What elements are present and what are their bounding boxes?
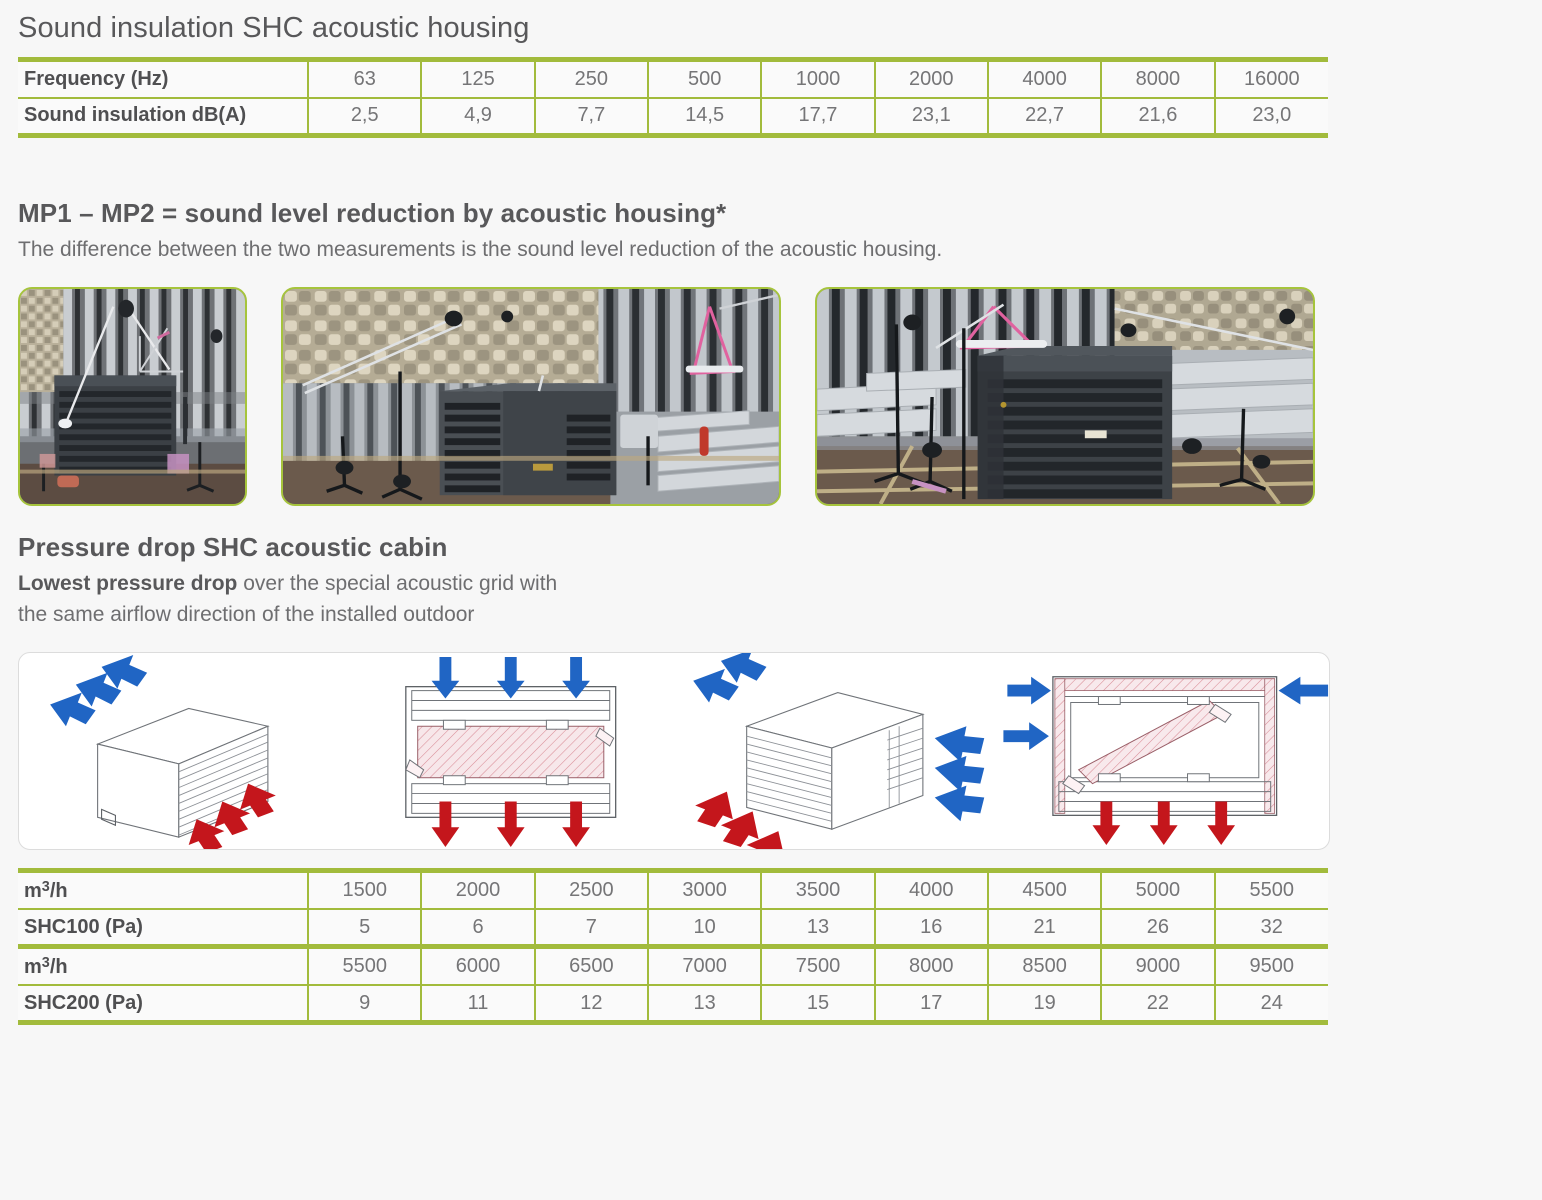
body-line-2: the same airflow direction of the instal… <box>18 603 474 626</box>
table-cell: 13 <box>761 909 874 947</box>
pressure-drop-table: m3/h 1500 2000 2500 3000 3500 4000 4500 … <box>18 868 1328 1025</box>
table-cell: 15 <box>761 985 874 1023</box>
row-label: Sound insulation dB(A) <box>18 98 308 136</box>
table-cell: 26 <box>1101 909 1214 947</box>
diagram-section-vertical-flow <box>347 653 675 849</box>
table-cell: 5500 <box>308 947 421 985</box>
table-cell: 8500 <box>988 947 1101 985</box>
table-cell: 9500 <box>1215 947 1328 985</box>
table-cell: 2000 <box>421 871 534 909</box>
table-cell: 125 <box>421 60 534 98</box>
table-row: m3/h 5500 6000 6500 7000 7500 8000 8500 … <box>18 947 1328 985</box>
table-cell: 13 <box>648 985 761 1023</box>
table-cell: 7500 <box>761 947 874 985</box>
table-cell: 1500 <box>308 871 421 909</box>
table-cell: 16000 <box>1215 60 1328 98</box>
table-row: Sound insulation dB(A) 2,5 4,9 7,7 14,5 … <box>18 98 1328 136</box>
table-cell: 21,6 <box>1101 98 1214 136</box>
row-label-shc100: SHC100 (Pa) <box>18 909 308 947</box>
superscript-3: 3 <box>42 879 50 895</box>
table-cell: 14,5 <box>648 98 761 136</box>
table-cell: 6000 <box>421 947 534 985</box>
body-emphasis: Lowest pressure drop <box>18 572 237 595</box>
table-row: SHC200 (Pa) 9 11 12 13 15 17 19 22 24 <box>18 985 1328 1023</box>
mp-section-title: MP1 – MP2 = sound level reduction by aco… <box>14 198 1528 235</box>
diagram-iso-housing-top-intake <box>19 653 347 849</box>
sound-insulation-table-wrap: Frequency (Hz) 63 125 250 500 1000 2000 … <box>14 55 1528 138</box>
sound-insulation-table: Frequency (Hz) 63 125 250 500 1000 2000 … <box>18 57 1328 138</box>
photo-unit-without-housing <box>281 287 781 506</box>
table-cell: 2,5 <box>308 98 421 136</box>
table-cell: 22,7 <box>988 98 1101 136</box>
table-cell: 7,7 <box>535 98 648 136</box>
table-cell: 32 <box>1215 909 1328 947</box>
spacer <box>14 506 1528 532</box>
table-cell: 1000 <box>761 60 874 98</box>
table-cell: 8000 <box>875 947 988 985</box>
row-label: Frequency (Hz) <box>18 60 308 98</box>
table-cell: 9 <box>308 985 421 1023</box>
table-cell: 17,7 <box>761 98 874 136</box>
row-label-flow-1: m3/h <box>18 871 308 909</box>
table-cell: 24 <box>1215 985 1328 1023</box>
table-cell: 16 <box>875 909 988 947</box>
table-cell: 11 <box>421 985 534 1023</box>
table-cell: 4000 <box>875 871 988 909</box>
diagram-section-diagonal-coil <box>1002 653 1330 849</box>
table-cell: 21 <box>988 909 1101 947</box>
mp-section-body: The difference between the two measureme… <box>14 235 1528 265</box>
table-cell: 5 <box>308 909 421 947</box>
table-cell: 4,9 <box>421 98 534 136</box>
table-cell: 9000 <box>1101 947 1214 985</box>
page-title: Sound insulation SHC acoustic housing <box>14 0 1528 55</box>
photo-row <box>18 287 1528 506</box>
table-cell: 4000 <box>988 60 1101 98</box>
row-label-flow-2: m3/h <box>18 947 308 985</box>
table-cell: 500 <box>648 60 761 98</box>
table-cell: 23,0 <box>1215 98 1328 136</box>
table-cell: 3500 <box>761 871 874 909</box>
table-cell: 17 <box>875 985 988 1023</box>
table-cell: 250 <box>535 60 648 98</box>
table-cell: 2000 <box>875 60 988 98</box>
table-row: SHC100 (Pa) 5 6 7 10 13 16 21 26 32 <box>18 909 1328 947</box>
table-cell: 7 <box>535 909 648 947</box>
table-cell: 8000 <box>1101 60 1214 98</box>
table-cell: 5000 <box>1101 871 1214 909</box>
spacer <box>14 138 1528 198</box>
table-cell: 6 <box>421 909 534 947</box>
pressure-drop-table-wrap: m3/h 1500 2000 2500 3000 3500 4000 4500 … <box>14 850 1528 1025</box>
table-cell: 5500 <box>1215 871 1328 909</box>
pressure-drop-title: Pressure drop SHC acoustic cabin <box>14 532 1528 569</box>
row-label-shc200: SHC200 (Pa) <box>18 985 308 1023</box>
photo-unit-with-acoustic-housing <box>815 287 1315 506</box>
superscript-3: 3 <box>42 955 50 971</box>
table-cell: 23,1 <box>875 98 988 136</box>
document-page: Sound insulation SHC acoustic housing Fr… <box>0 0 1542 1200</box>
table-cell: 10 <box>648 909 761 947</box>
body-rest: over the special acoustic grid with <box>237 572 557 595</box>
table-cell: 63 <box>308 60 421 98</box>
table-cell: 2500 <box>535 871 648 909</box>
table-cell: 19 <box>988 985 1101 1023</box>
diagram-iso-cabin-side-intake <box>674 653 1002 849</box>
table-cell: 7000 <box>648 947 761 985</box>
table-cell: 3000 <box>648 871 761 909</box>
photo-acoustic-housing-front-louvers <box>18 287 247 506</box>
table-cell: 12 <box>535 985 648 1023</box>
table-row: Frequency (Hz) 63 125 250 500 1000 2000 … <box>18 60 1328 98</box>
table-cell: 22 <box>1101 985 1214 1023</box>
pressure-drop-body: Lowest pressure drop over the special ac… <box>14 569 1528 630</box>
table-cell: 6500 <box>535 947 648 985</box>
table-cell: 4500 <box>988 871 1101 909</box>
airflow-diagram-panel <box>18 652 1330 850</box>
table-row: m3/h 1500 2000 2500 3000 3500 4000 4500 … <box>18 871 1328 909</box>
